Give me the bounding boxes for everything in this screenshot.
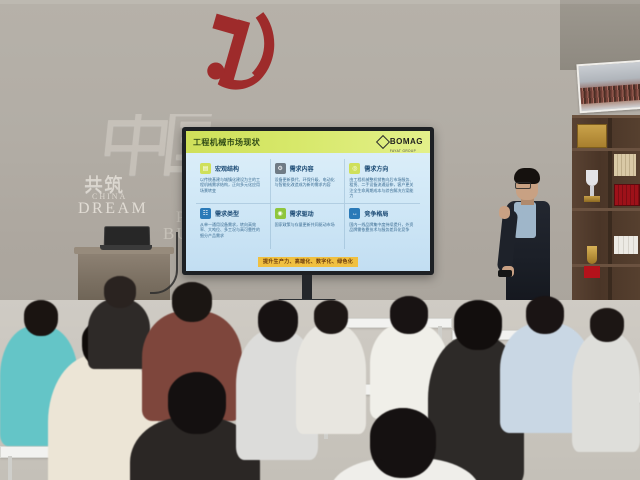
slide-card-title: 需求驱动 [290, 209, 314, 218]
slide-card-header: ▤宏观结构 [200, 163, 264, 174]
bomag-diamond-icon [376, 135, 390, 149]
gear-icon: ⚙ [275, 163, 286, 174]
slide-card: ↔竞争格局国内一线品牌集中度持续提升，外资品牌需依靠技术与服务差异化竞争 [345, 204, 420, 249]
slide-card-title: 宏观结构 [215, 164, 239, 173]
slide-card-grid: ▤宏观结构以传统基建与城镇化建设为主的工程机械需求结构，正向多元化应用场景转变⚙… [196, 159, 420, 249]
audience-hair [104, 276, 136, 302]
slide-card-header: ⚙需求内容 [275, 163, 339, 174]
audience-hair [454, 300, 502, 340]
audience-torso [88, 299, 150, 369]
slide-title: 工程机械市场现状 [193, 137, 260, 148]
display-screen: 工程机械市场现状 BOMAG FAYAT GROUP ▤宏观结构以传统基建与城镇… [186, 131, 430, 271]
presentation-slide: 工程机械市场现状 BOMAG FAYAT GROUP ▤宏观结构以传统基建与城镇… [186, 131, 430, 271]
silver-trophy [582, 170, 602, 204]
desk-leg [8, 456, 12, 480]
presenter-standing [498, 166, 562, 311]
slide-footer: 提升生产力、高端化、数字化、绿色化 [186, 250, 430, 268]
slide-card-body: 从单一通用设备需求，转向高效率、大吨位、多工况与高可靠性的细分产品需求 [200, 222, 264, 238]
classroom-presentation-scene: 中国梦 共筑 CHINA DREAM P BUI R CORE SOCIALIS… [0, 0, 640, 480]
audience-hair [526, 296, 564, 326]
audience-hair [258, 300, 298, 334]
layers-icon: ☷ [200, 208, 211, 219]
display-stand-leg [302, 275, 312, 301]
audience-hair [390, 296, 428, 326]
slide-card-header: ↔竞争格局 [349, 208, 414, 219]
audience-member [88, 276, 150, 346]
slide-card-body: 国内一线品牌集中度持续提升，外资品牌需依靠技术与服务差异化竞争 [349, 222, 414, 233]
slide-card-title: 竞争格局 [364, 209, 388, 218]
slide-header: 工程机械市场现状 BOMAG FAYAT GROUP [186, 131, 430, 153]
brand-tagline: FAYAT GROUP [390, 149, 423, 153]
ceiling-edge [0, 0, 640, 4]
brand-name: BOMAG [390, 137, 423, 146]
slide-card: ☷需求类型从单一通用设备需求，转向高效率、大吨位、多工况与高可靠性的细分产品需求 [196, 204, 271, 249]
slide-card: ◎需求方向由工程机械整机销售向后市场服务、租赁、二手设备流通延伸，客户更关注全生… [345, 159, 420, 204]
slide-card: ⚙需求内容设备更新换代、环保升级、电动化与智能化改造成为新的需求内容 [271, 159, 346, 204]
laptop-open[interactable] [100, 226, 152, 250]
slide-card-title: 需求类型 [215, 209, 239, 218]
slide-card-header: ☷需求类型 [200, 208, 264, 219]
audience-member [296, 300, 366, 410]
dream-label: DREAM [78, 200, 148, 218]
slide-card: ◉需求驱动国家政策与存量更新共同驱动市场 [271, 204, 346, 249]
wall-mounted-display[interactable]: 工程机械市场现状 BOMAG FAYAT GROUP ▤宏观结构以传统基建与城镇… [182, 127, 434, 275]
footer-tags: 提升生产力、高端化、数字化、绿色化 [258, 257, 358, 267]
wall-upper-right [560, 0, 640, 70]
white-books [614, 236, 638, 254]
slide-card-body: 国家政策与存量更新共同驱动市场 [275, 222, 339, 227]
gold-trophy [584, 246, 600, 280]
audience-hair [590, 308, 624, 335]
audience-hair [370, 408, 436, 464]
target-icon: ◉ [275, 208, 286, 219]
slide-card-title: 需求内容 [290, 164, 314, 173]
remote-clicker[interactable] [498, 270, 512, 277]
group-photograph [576, 60, 640, 113]
audience-member [572, 308, 640, 428]
award-plaque [577, 124, 607, 148]
slide-card-header: ◉需求驱动 [275, 208, 339, 219]
slide-card-body: 设备更新换代、环保升级、电动化与智能化改造成为新的需求内容 [275, 177, 339, 188]
handshake-icon: ↔ [349, 208, 360, 219]
audience-hair [168, 372, 226, 422]
red-books [614, 184, 640, 206]
audience-hair [314, 300, 348, 327]
document-icon: ▤ [200, 163, 211, 174]
audience-member [330, 408, 480, 480]
glasses-icon [515, 182, 531, 189]
slide-card-header: ◎需求方向 [349, 163, 414, 174]
hammer-and-sickle-emblem [193, 8, 288, 96]
audience-hair [172, 282, 212, 314]
wooden-bookshelf [572, 115, 640, 303]
slide-card: ▤宏观结构以传统基建与城镇化建设为主的工程机械需求结构，正向多元化应用场景转变 [196, 159, 271, 204]
tan-books [614, 154, 636, 176]
presenter-raised-hand [499, 206, 510, 219]
bomag-logo: BOMAG FAYAT GROUP [378, 131, 423, 153]
slide-card-title: 需求方向 [364, 164, 388, 173]
compass-icon: ◎ [349, 163, 360, 174]
slide-card-body: 由工程机械整机销售向后市场服务、租赁、二手设备流通延伸，客户更关注全生命周期成本… [349, 177, 414, 199]
audience-torso [572, 332, 640, 452]
slide-card-body: 以传统基建与城镇化建设为主的工程机械需求结构，正向多元化应用场景转变 [200, 177, 264, 193]
